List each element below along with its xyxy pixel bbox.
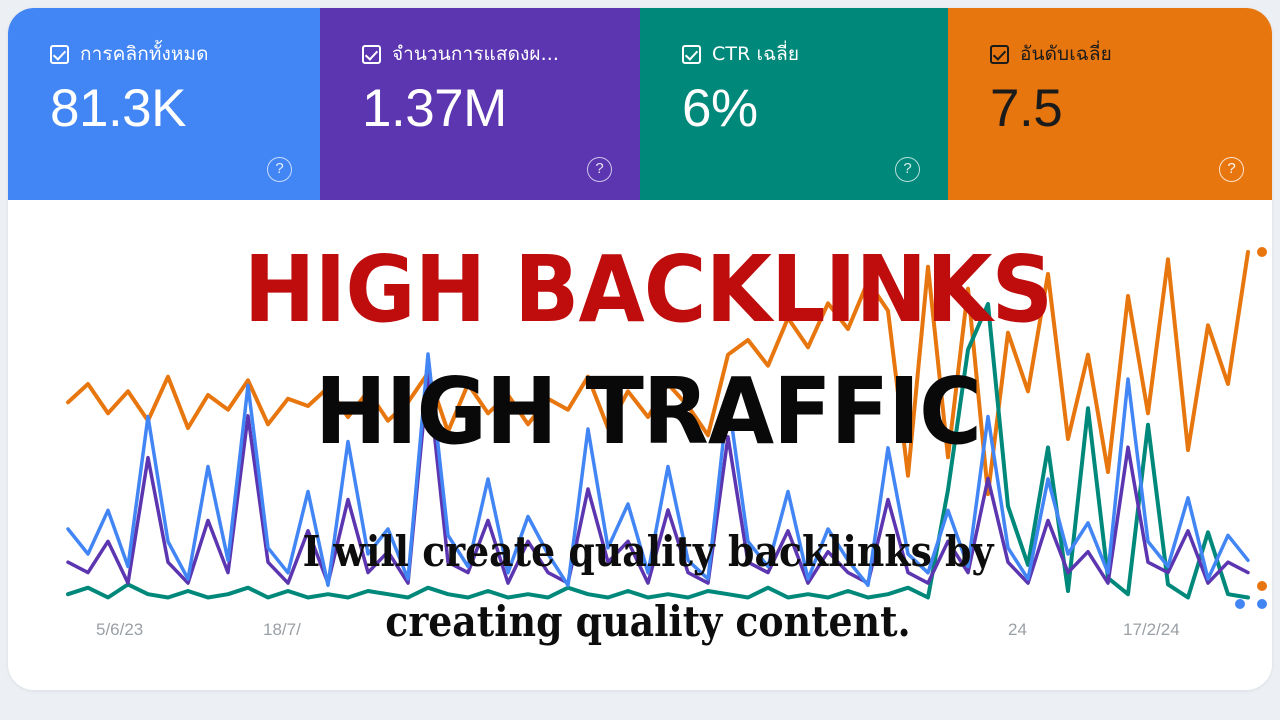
x-tick-label: 18/7/ [263,620,301,640]
metric-head: CTR เฉลี่ย [682,42,948,66]
metric-head: การคลิกทั้งหมด [50,42,320,66]
metric-card-average-ctr[interactable]: CTR เฉลี่ย 6% ? [640,8,948,200]
series-average-position [68,252,1248,494]
chart-plot-svg [8,200,1272,620]
metric-value: 6% [682,79,948,139]
help-icon[interactable]: ? [267,157,292,182]
performance-chart: 5/6/23 18/7/ 24 17/2/24 [8,200,1272,690]
metric-cards-strip: การคลิกทั้งหมด 81.3K ? จำนวนการแสดงผ... … [8,8,1272,200]
x-tick-label: 5/6/23 [96,620,143,640]
help-icon[interactable]: ? [895,157,920,182]
metric-head: อันดับเฉลี่ย [990,42,1272,66]
screenshot-root: การคลิกทั้งหมด 81.3K ? จำนวนการแสดงผ... … [0,0,1280,720]
metric-value: 7.5 [990,79,1272,139]
x-tick-label: 17/2/24 [1123,620,1180,640]
chart-x-axis: 5/6/23 18/7/ 24 17/2/24 [8,620,1272,644]
metric-label: อันดับเฉลี่ย [1020,43,1112,66]
checkbox-checked-icon[interactable] [682,45,701,64]
checkbox-checked-icon[interactable] [50,45,69,64]
metric-label: CTR เฉลี่ย [712,43,799,66]
metric-card-average-position[interactable]: อันดับเฉลี่ย 7.5 ? [948,8,1272,200]
help-icon[interactable]: ? [587,157,612,182]
metric-value: 1.37M [362,79,640,139]
help-icon[interactable]: ? [1219,157,1244,182]
checkbox-checked-icon[interactable] [362,45,381,64]
metric-head: จำนวนการแสดงผ... [362,42,640,66]
metric-value: 81.3K [50,79,320,139]
x-tick-label: 24 [1008,620,1027,640]
metric-card-total-impressions[interactable]: จำนวนการแสดงผ... 1.37M ? [320,8,640,200]
performance-report-card: การคลิกทั้งหมด 81.3K ? จำนวนการแสดงผ... … [8,8,1272,690]
checkbox-checked-icon[interactable] [990,45,1009,64]
metric-card-total-clicks[interactable]: การคลิกทั้งหมด 81.3K ? [8,8,320,200]
metric-label: จำนวนการแสดงผ... [392,43,559,66]
metric-label: การคลิกทั้งหมด [80,43,209,66]
